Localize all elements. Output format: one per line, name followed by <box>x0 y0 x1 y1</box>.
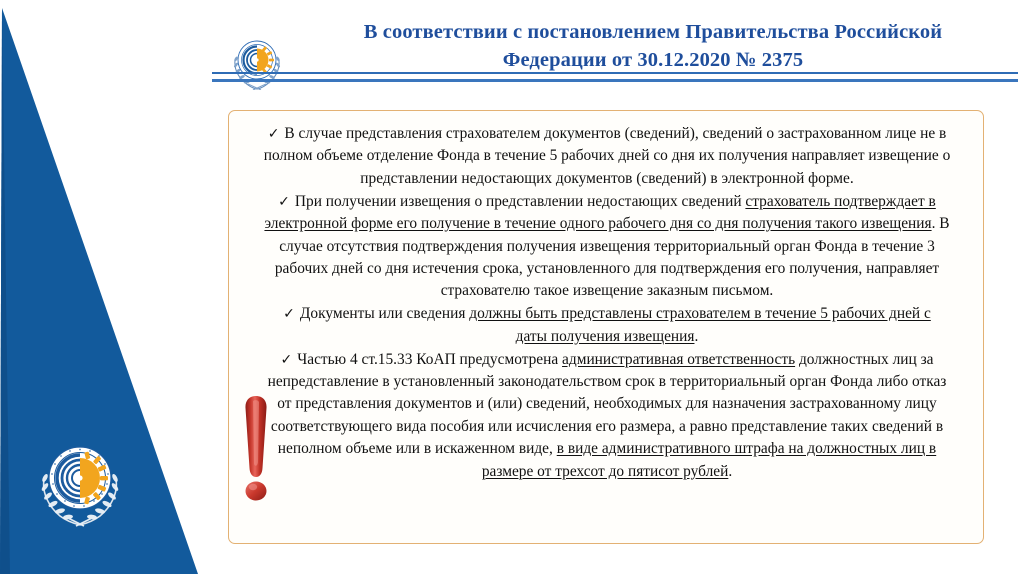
header-divider-top <box>212 72 1018 74</box>
fss-emblem-icon <box>28 428 132 532</box>
header-divider-bottom <box>212 79 1018 82</box>
content-list: ✓В случае представления страхователем до… <box>245 123 969 484</box>
body-text: В случае представления страхователем док… <box>264 125 951 187</box>
page-title-line2: Федерации от 30.12.2020 № 2375 <box>503 49 803 71</box>
checkmark-icon: ✓ <box>268 126 285 142</box>
slide-root: В соответствии с постановлением Правител… <box>0 0 1024 574</box>
checkmark-icon: ✓ <box>278 194 295 210</box>
body-text: . <box>728 463 732 480</box>
body-text: Документы или сведения <box>300 305 469 322</box>
list-item: ✓Документы или сведения должны быть пред… <box>245 303 969 348</box>
list-item: ✓В случае представления страхователем до… <box>245 123 969 190</box>
body-text: . <box>694 328 698 345</box>
emphasized-text: должны быть представлены страхователем в… <box>469 305 931 344</box>
body-text: Частью 4 ст.15.33 КоАП предусмотрена <box>297 351 562 368</box>
emphasized-text: административная ответственность <box>562 351 795 368</box>
page-title: В соответствии с постановлением Правител… <box>292 18 1014 74</box>
checkmark-icon: ✓ <box>281 352 298 368</box>
content-panel: ✓В случае представления страхователем до… <box>228 110 984 544</box>
page-title-line1: В соответствии с постановлением Правител… <box>364 21 942 43</box>
list-item: ✓Частью 4 ст.15.33 КоАП предусмотрена ад… <box>245 349 969 483</box>
list-item: ✓При получении извещения о представлении… <box>245 191 969 303</box>
checkmark-icon: ✓ <box>283 306 300 322</box>
body-text: При получении извещения о представлении … <box>295 193 746 210</box>
